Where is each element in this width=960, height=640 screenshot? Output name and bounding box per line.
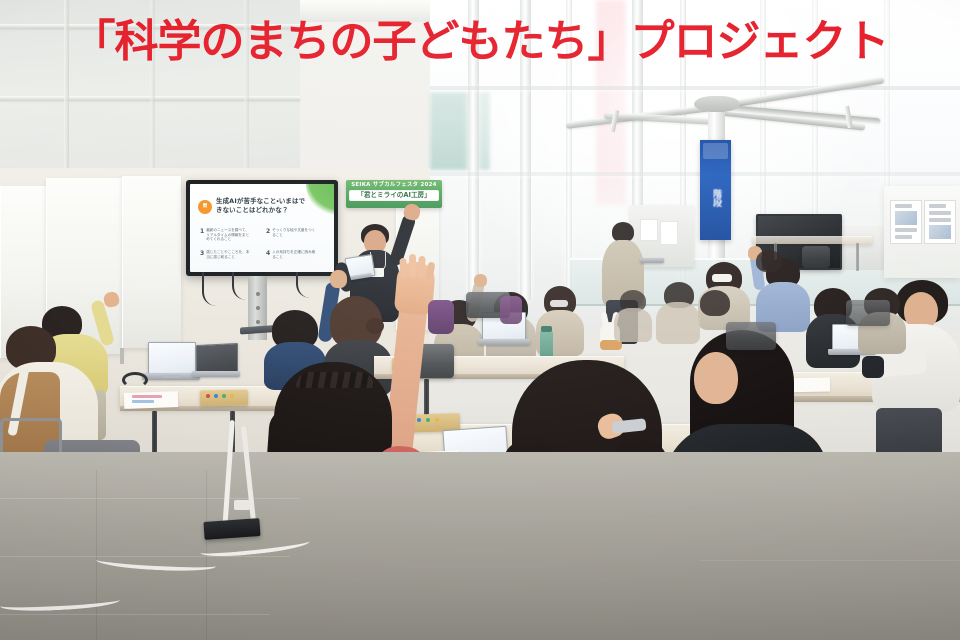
- face-mask: [712, 274, 732, 282]
- slide-item: 3 感じたことやこころを、本当に感じ取ること: [200, 250, 250, 259]
- stand-bolt: [256, 292, 260, 296]
- slide-decor-shape: [306, 184, 334, 218]
- slide-item-number: 4: [266, 250, 270, 259]
- slide-badge-label: 問: [203, 205, 208, 210]
- poster-line: [895, 235, 912, 239]
- background-table: [752, 236, 872, 244]
- table-leg: [856, 243, 859, 271]
- raised-hand-icon: [330, 270, 347, 288]
- marker-tray: [200, 390, 248, 407]
- slide-item-text: 感じたことやこころを、本当に感じ取ること: [206, 250, 250, 259]
- poster-line: [929, 204, 946, 208]
- background-chair: [802, 246, 830, 268]
- handout-graphic: [132, 395, 162, 398]
- marker: [417, 418, 421, 422]
- screenshot-root: 階段: [0, 0, 960, 640]
- hanging-direction-sign: 階段: [700, 140, 731, 240]
- page-title: 「科学のまちの子どもたち」プロジェクト: [0, 16, 960, 68]
- display-cable: [202, 272, 226, 306]
- slide-content: 問 生成AIが苦手なこと・いまはできないことはどれかな？ 1 最新のニュースを調…: [190, 184, 334, 272]
- chair-back: [726, 322, 776, 350]
- person-head: [700, 290, 730, 316]
- bottle-cap: [541, 326, 552, 332]
- laptop-trackpad: [162, 375, 180, 378]
- floor: [0, 452, 960, 640]
- person-head: [612, 222, 634, 242]
- stand-bolt: [256, 320, 260, 324]
- hanging-sign-label: 階段: [710, 163, 721, 233]
- poster-line: [929, 218, 951, 222]
- raised-hand-icon: [474, 274, 487, 287]
- presentation-display: 問 生成AIが苦手なこと・いまはできないことはどれかな？ 1 最新のニュースを調…: [186, 180, 338, 284]
- headphones-icon: [122, 372, 148, 388]
- slide-item-text: 最新のニュースを調べて、リアルタイムの情報をまとめてくれること: [206, 228, 250, 242]
- marker: [230, 394, 234, 398]
- floor-tile-line: [0, 614, 270, 615]
- slide-item: 1 最新のニュースを調べて、リアルタイムの情報をまとめてくれること: [200, 228, 250, 242]
- stand-bolt: [256, 306, 260, 310]
- poster-image: [895, 211, 917, 225]
- pinned-sheet: [660, 221, 678, 245]
- slide-item-text: そっくりな絵や文章をつくること: [272, 228, 316, 237]
- event-banner-subtitle: SEIKA サブカルフェスタ 2024: [349, 182, 439, 189]
- backpack: [500, 296, 522, 324]
- slide-item-text: 人の気持ちを正確に読み取ること: [272, 250, 316, 259]
- finger: [399, 258, 407, 278]
- floor-tile-line: [96, 470, 97, 640]
- laptop-icon: [640, 258, 664, 263]
- slide-badge: 問: [198, 200, 212, 214]
- event-banner: SEIKA サブカルフェスタ 2024 「君とミライのAI工房」: [346, 180, 442, 208]
- marker: [214, 394, 218, 398]
- finger: [409, 254, 416, 278]
- poster-image: [929, 225, 951, 239]
- black-adult-face: [694, 352, 738, 404]
- backpack: [428, 300, 454, 334]
- partition-leg: [120, 348, 124, 364]
- slide-item: 4 人の気持ちを正確に読み取ること: [266, 250, 316, 259]
- poster-line: [895, 228, 917, 232]
- poster: [890, 200, 922, 244]
- cuff: [862, 356, 884, 378]
- white-cabinet-right: [836, 226, 890, 270]
- slide-title: 生成AIが苦手なこと・いまはできないことはどれかな？: [216, 197, 308, 214]
- window-transom: [430, 86, 960, 90]
- poster: [924, 200, 956, 244]
- marker: [206, 394, 210, 398]
- face-mask: [550, 300, 568, 307]
- marker: [426, 418, 430, 422]
- poster-board: [884, 186, 960, 278]
- partition-panel: [122, 176, 181, 348]
- floor-tile-line: [0, 498, 300, 499]
- braid: [296, 372, 374, 388]
- slide-item: 2 そっくりな絵や文章をつくること: [266, 228, 316, 237]
- marker: [435, 418, 439, 422]
- pinned-sheet: [640, 219, 658, 241]
- poster-line: [929, 211, 951, 215]
- sign-pictogram: [703, 143, 728, 159]
- laptop-icon: [148, 342, 196, 376]
- event-banner-title: 「君とミライのAI工房」: [349, 190, 439, 201]
- laptop-base: [478, 339, 530, 345]
- poster-line: [895, 204, 912, 208]
- plug: [234, 500, 250, 510]
- floor-tile-line: [700, 560, 960, 561]
- chair-back: [846, 300, 890, 326]
- slide-item-number: 3: [200, 250, 204, 259]
- person-body: [614, 308, 652, 342]
- window-transom: [430, 172, 960, 176]
- person-body: [656, 302, 700, 344]
- slide-item-number: 2: [266, 228, 270, 237]
- laptop-base: [192, 371, 240, 377]
- hair-bun: [366, 318, 384, 334]
- canopy-hub: [694, 96, 740, 112]
- monitor-icon: 問 生成AIが苦手なこと・いまはできないことはどれかな？ 1 最新のニュースを調…: [186, 180, 338, 276]
- person-head: [756, 250, 782, 272]
- slide-item-number: 1: [200, 228, 204, 242]
- marker: [222, 394, 226, 398]
- handout-graphic: [132, 400, 154, 403]
